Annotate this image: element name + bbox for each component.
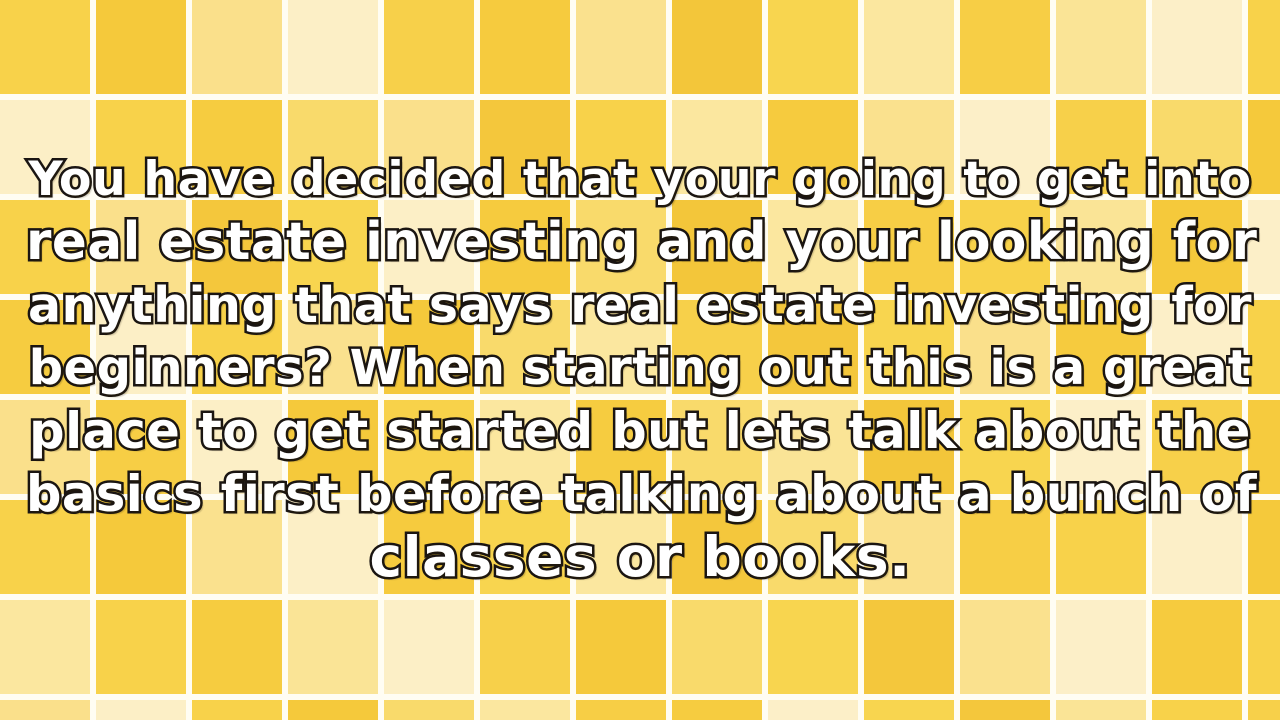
background-tile	[960, 700, 1056, 720]
caption-line: place to get started but lets talk about…	[26, 400, 1254, 463]
background-tile	[384, 600, 480, 700]
background-tile	[768, 0, 864, 100]
background-tile	[0, 0, 96, 100]
background-tile	[384, 0, 480, 100]
background-tile	[192, 0, 288, 100]
background-tile	[1152, 0, 1248, 100]
background-tile	[1056, 700, 1152, 720]
caption-line: You have decided that your going to get …	[26, 148, 1254, 211]
background-tile	[864, 600, 960, 700]
background-tile	[864, 700, 960, 720]
background-tile	[1152, 700, 1248, 720]
background-tile	[672, 700, 768, 720]
background-tile	[480, 600, 576, 700]
background-tile	[960, 0, 1056, 100]
background-tile	[192, 700, 288, 720]
background-tile	[1248, 0, 1280, 100]
background-tile	[576, 700, 672, 720]
background-tile	[384, 700, 480, 720]
background-tile	[672, 600, 768, 700]
background-tile	[192, 600, 288, 700]
background-tile	[1056, 600, 1152, 700]
background-tile	[960, 600, 1056, 700]
background-tile	[0, 700, 96, 720]
background-tile	[96, 700, 192, 720]
caption-line: basics first before talking about a bunc…	[26, 463, 1254, 526]
caption-line: anything that says real estate investing…	[26, 274, 1254, 337]
caption-line: beginners? When starting out this is a g…	[26, 337, 1254, 400]
background-tile	[576, 0, 672, 100]
background-tile	[1056, 0, 1152, 100]
background-tile	[288, 700, 384, 720]
background-tile	[96, 0, 192, 100]
slide-canvas: You have decided that your going to get …	[0, 0, 1280, 720]
background-tile	[1152, 600, 1248, 700]
background-tile	[1248, 700, 1280, 720]
background-tile	[288, 600, 384, 700]
background-tile	[768, 600, 864, 700]
background-tile	[1248, 600, 1280, 700]
background-tile	[768, 700, 864, 720]
background-tile	[288, 0, 384, 100]
background-tile	[0, 600, 96, 700]
background-tile	[480, 0, 576, 100]
background-tile	[576, 600, 672, 700]
background-tile	[864, 0, 960, 100]
background-tile	[96, 600, 192, 700]
caption-line: real estate investing and your looking f…	[26, 211, 1254, 274]
caption-text-block: You have decided that your going to get …	[0, 148, 1280, 589]
background-tile	[480, 700, 576, 720]
caption-line: classes or books.	[26, 526, 1254, 589]
background-tile	[672, 0, 768, 100]
